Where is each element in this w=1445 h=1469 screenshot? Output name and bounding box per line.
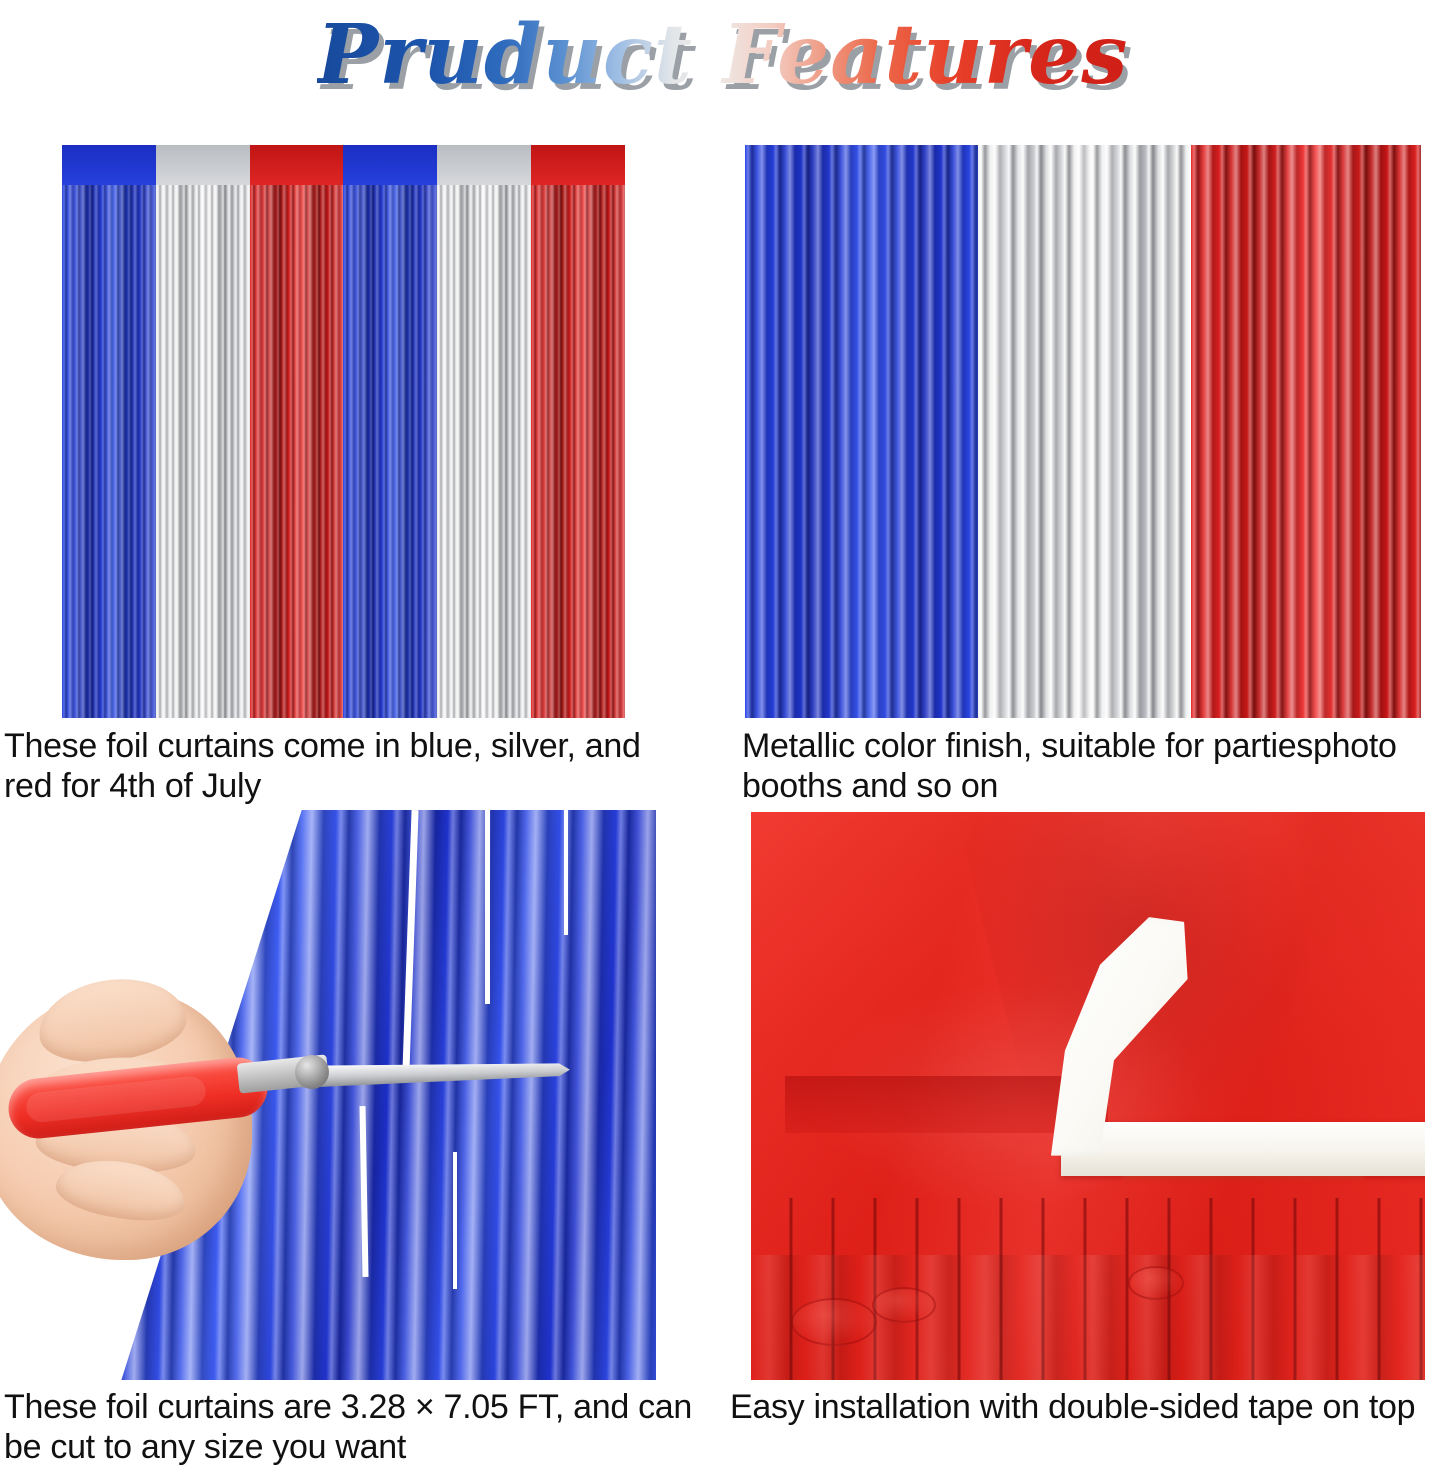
feature-caption-colors: These foil curtains come in blue, silver… (4, 727, 694, 807)
foil-panel-row (745, 145, 1421, 718)
foil-strands (978, 145, 1191, 718)
foil-strands (343, 145, 437, 718)
foil-strands (745, 145, 978, 718)
double-sided-tape-strip (1061, 1122, 1425, 1177)
scissors-blade (300, 1058, 571, 1088)
feature-image-cuttable (0, 810, 656, 1380)
foil-panel-row (62, 145, 625, 718)
foil-panel-silver-2 (437, 145, 531, 718)
feature-image-metallic (745, 145, 1421, 718)
foil-header-strip (343, 145, 437, 185)
product-features-page: Pruduct Features Pruduct Features These … (0, 0, 1445, 1469)
feature-caption-metallic: Metallic color finish, suitable for part… (742, 727, 1444, 807)
foil-panel-red-1 (250, 145, 344, 718)
foil-strands (250, 145, 344, 718)
foil-panel-red-2 (531, 145, 625, 718)
cutting-tool-group (0, 810, 656, 1380)
foil-panel-blue (745, 145, 978, 718)
foil-strands (437, 145, 531, 718)
foil-strands (62, 145, 156, 718)
feature-image-installation (751, 812, 1425, 1380)
feature-caption-installation: Easy installation with double-sided tape… (730, 1388, 1445, 1428)
foil-header-strip (62, 145, 156, 185)
foil-header-strip (156, 145, 250, 185)
feature-caption-cuttable: These foil curtains are 3.28 × 7.05 FT, … (4, 1388, 694, 1468)
foil-header-strip (531, 145, 625, 185)
foil-strands (156, 145, 250, 718)
foil-strands (1191, 145, 1421, 718)
foil-panel-blue-1 (62, 145, 156, 718)
scissors-pivot-screw (295, 1055, 329, 1089)
page-title-text: Pruduct Features (317, 7, 1129, 103)
page-title: Pruduct Features Pruduct Features (317, 14, 1129, 96)
foil-panel-silver (978, 145, 1191, 718)
foil-header-strip (437, 145, 531, 185)
feature-image-colors (62, 145, 625, 718)
foil-crease-bubble (791, 1298, 877, 1346)
foil-strands (531, 145, 625, 718)
page-title-container: Pruduct Features Pruduct Features (0, 2, 1445, 108)
foil-panel-silver-1 (156, 145, 250, 718)
foil-header-strip (250, 145, 344, 185)
foil-panel-red (1191, 145, 1421, 718)
foil-panel-blue-2 (343, 145, 437, 718)
